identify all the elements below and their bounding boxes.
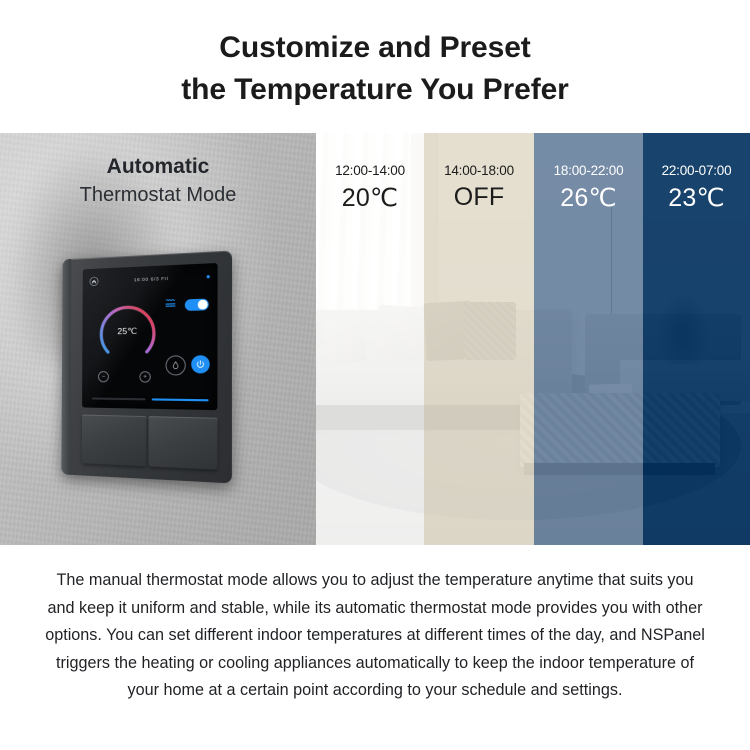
increase-temperature-button[interactable]: + [139,371,150,383]
page-title-line-1: Customize and Preset [219,27,530,69]
screen-progress-bar-right [152,399,209,402]
schedule-column-2: 14:00-18:00OFF [424,133,534,545]
nspanel-device[interactable]: 16:00 6/3 Fri [61,250,232,483]
device-screen[interactable]: 16:00 6/3 Fri [82,263,218,410]
mode-label-bold: Automatic [0,153,316,181]
device-body: 16:00 6/3 Fri [61,250,232,483]
heating-coil-icon[interactable] [165,297,177,308]
dial-temperature-value: 25℃ [93,295,162,366]
power-button[interactable] [191,355,210,373]
screen-status-indicator [207,275,210,278]
schedule-column-4: 22:00-07:0023℃ [643,133,750,545]
schedule-temperature-4: 23℃ [643,183,750,213]
right-rocker-button[interactable] [148,416,217,470]
thermostat-power-toggle[interactable] [185,299,209,311]
humidity-icon [171,361,181,371]
schedule-column-1: 12:00-14:0020℃ [316,133,424,545]
schedule-time-3: 18:00-22:00 [534,163,643,178]
decrease-temperature-button[interactable]: − [98,371,109,382]
schedule-columns: 12:00-14:0020℃14:00-18:00OFF18:00-22:002… [316,133,750,545]
physical-button-row [82,415,218,470]
schedule-time-2: 14:00-18:00 [424,163,534,178]
schedule-temperature-2: OFF [424,183,534,212]
schedule-time-4: 22:00-07:00 [643,163,750,178]
schedule-time-1: 12:00-14:00 [316,163,424,178]
schedule-temperature-1: 20℃ [316,183,424,213]
schedule-column-3: 18:00-22:0026℃ [534,133,643,545]
page-header: Customize and Preset the Temperature You… [0,0,750,133]
screen-status-bar: 16:00 6/3 Fri [83,270,218,287]
humidity-button[interactable] [166,355,186,375]
screen-status-text: 16:00 6/3 Fri [98,274,206,284]
device-side-edge [61,259,71,475]
page-title-line-2: the Temperature You Prefer [181,69,569,111]
power-icon [196,360,206,370]
schedule-temperature-3: 26℃ [534,183,643,213]
screen-progress-bar-left [92,398,146,401]
page-footer: The manual thermostat mode allows you to… [0,545,750,750]
toggle-knob [198,300,207,309]
temperature-dial[interactable]: 25℃ [93,295,162,366]
mode-label: Automatic Thermostat Mode [0,153,316,210]
feature-band: Automatic Thermostat Mode 16:00 6/3 Fri [0,133,750,545]
left-rocker-button[interactable] [82,415,147,467]
mode-label-regular: Thermostat Mode [0,181,316,210]
description-paragraph: The manual thermostat mode allows you to… [45,567,705,705]
home-icon[interactable] [90,277,99,286]
room-scene: 12:00-14:0020℃14:00-18:00OFF18:00-22:002… [316,133,750,545]
